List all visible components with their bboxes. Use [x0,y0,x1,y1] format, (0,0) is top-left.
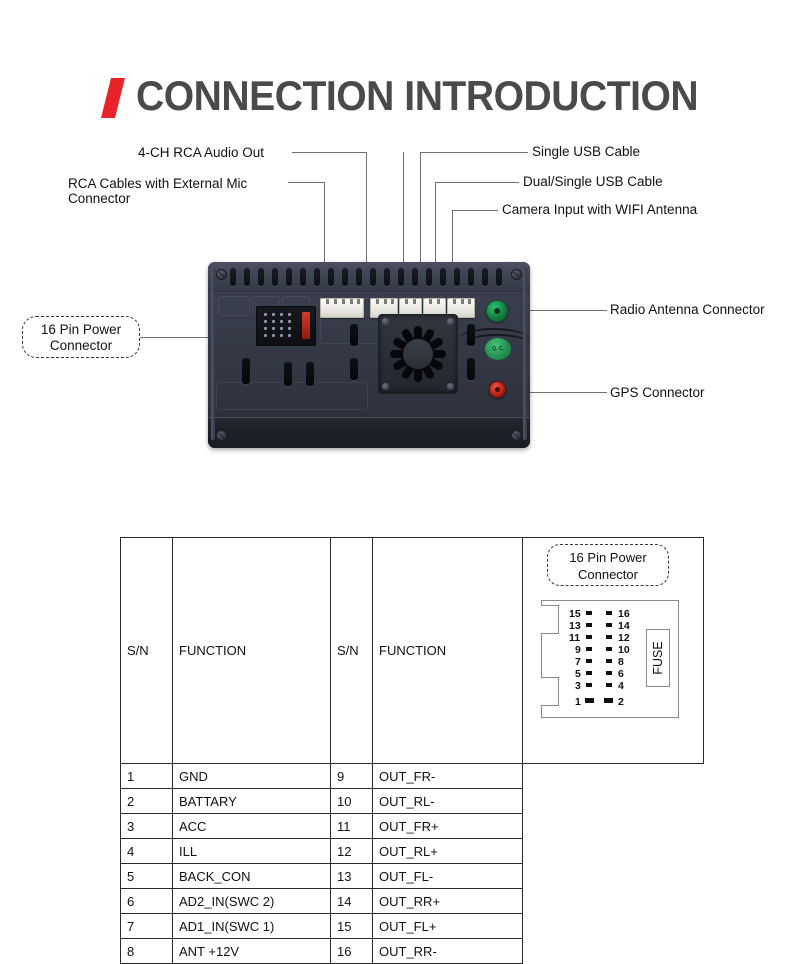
pin-label-15: 15 [569,608,581,620]
cell-function: ILL [173,839,331,864]
cell-function: ANT +12V [173,939,331,964]
connector-notch-top [541,605,559,634]
cooling-fan [378,314,458,394]
label-4ch-rca-audio-out: 4-CH RCA Audio Out [138,145,264,160]
chassis-slot [350,358,358,380]
red-accent-bar [101,78,125,118]
cell-sn: 15 [331,914,373,939]
pin-label-3: 3 [575,680,581,692]
cell-function: BACK_CON [173,864,331,889]
leader-rca-audio-v [366,152,367,266]
cell-sn: 1 [121,764,173,789]
label-single-usb-cable: Single USB Cable [532,144,640,159]
cell-sn: 6 [121,889,173,914]
chassis-slot [467,324,475,346]
leader-camera-h [452,210,498,211]
leader-single-usb-h [420,152,528,153]
chassis-slot [467,358,475,380]
leader-single-usb-v [420,152,421,266]
cell-function: OUT_FR- [373,764,523,789]
pin-label-7: 7 [575,656,581,668]
cell-function: OUT_RR- [373,939,523,964]
cell-sn: 7 [121,914,173,939]
fuse-box: FUSE [646,629,670,687]
connector-outline: 15 13 11 9 7 5 3 [541,600,679,718]
page-title: CONNECTION INTRODUCTION [136,72,698,120]
cell-sn: 16 [331,939,373,964]
leader-rca-mic-v [324,182,325,266]
radio-antenna-connector [486,300,508,322]
table-row: 6 AD2_IN(SWC 2) 14 OUT_RR+ [121,889,704,914]
table-row: 5 BACK_CON 13 OUT_FL- [121,864,704,889]
page-header: CONNECTION INTRODUCTION [0,34,800,96]
socket-fuse [302,312,310,339]
table-row: 4 ILL 12 OUT_RL+ [121,839,704,864]
fuse-label: FUSE [651,641,665,674]
cell-function: OUT_FL- [373,864,523,889]
panel-seam [218,296,250,316]
cell-sn: 3 [121,814,173,839]
pinout-diagram: 16 Pin Power Connector 15 13 11 9 7 [529,538,697,763]
pin-label-11: 11 [569,632,580,644]
connector-rca-audio-out [320,298,364,318]
leader-camera-v [452,210,453,266]
leader-dual-usb-v [435,182,436,266]
cell-sn: 11 [331,814,373,839]
label-radio-antenna-connector: Radio Antenna Connector [610,302,765,317]
leader-dual-usb-h [435,182,519,183]
callout-16-pin-power-connector: 16 Pin Power Connector [22,316,140,358]
pinout-diagram-cell: 16 Pin Power Connector 15 13 11 9 7 [523,538,704,764]
pinout-title-line2: Connector [578,567,638,582]
pin-label-9: 9 [575,644,581,656]
cell-function: OUT_RL+ [373,839,523,864]
leader-usb-extra-v [403,152,404,266]
cell-function: OUT_RR+ [373,889,523,914]
chassis-slot [306,362,314,386]
corner-screw [511,430,522,441]
cell-sn: 9 [331,764,373,789]
connector-notch-bottom [541,677,559,706]
table-row: 3 ACC 11 OUT_FR+ [121,814,704,839]
label-gps-connector: GPS Connector [610,385,705,400]
table-header-row: S/N FUNCTION S/N FUNCTION 16 Pin Power C… [121,538,704,764]
chassis-side-rail [523,268,527,440]
pin-label-14: 14 [618,620,630,632]
panel-seam [216,382,368,410]
cell-function: OUT_FR+ [373,814,523,839]
label-rca-cables-external-mic: RCA Cables with External Mic Connector [68,176,278,206]
cell-function: OUT_RL- [373,789,523,814]
label-dual-single-usb-cable: Dual/Single USB Cable [523,174,663,189]
chassis-slot [242,358,250,384]
cell-sn: 14 [331,889,373,914]
header-function-1: FUNCTION [173,538,331,764]
device-bottom-band [208,417,530,448]
header-sn-2: S/N [331,538,373,764]
header-function-2: FUNCTION [373,538,523,764]
cell-function: BATTARY [173,789,331,814]
pin-label-10: 10 [618,644,630,656]
cell-function: GND [173,764,331,789]
power-connector-line1: 16 Pin Power [41,322,121,337]
cell-function: AD1_IN(SWC 1) [173,914,331,939]
pin-label-4: 4 [618,680,624,692]
pin-label-5: 5 [575,668,581,680]
socket-pin-grid [262,311,296,341]
table-body: 1 GND 9 OUT_FR- 2 BATTARY 10 OUT_RL- 3 A… [121,764,704,964]
cell-function: ACC [173,814,331,839]
chassis-slot [350,324,358,346]
pinout-title-box: 16 Pin Power Connector [547,544,669,586]
corner-screw [216,430,227,441]
table-row: 2 BATTARY 10 OUT_RL- [121,789,704,814]
cell-sn: 12 [331,839,373,864]
cell-sn: 10 [331,789,373,814]
chassis-slot [284,362,292,386]
pin-label-16: 16 [618,608,630,620]
cell-sn: 5 [121,864,173,889]
corner-screw [511,269,522,280]
cell-function: AD2_IN(SWC 2) [173,889,331,914]
pin-label-8: 8 [618,656,624,668]
table-row: 8 ANT +12V 16 OUT_RR- [121,939,704,964]
device-16pin-power-socket [256,306,316,346]
power-connector-line2: Connector [50,338,112,353]
header-sn-1: S/N [121,538,173,764]
ventilation-slots [230,268,508,286]
cell-function: OUT_FL+ [373,914,523,939]
leader-rca-mic-h [288,182,324,183]
gps-connector [489,381,506,398]
corner-screw [216,269,227,280]
connection-introduction-page: CONNECTION INTRODUCTION 4-CH RCA Audio O… [0,0,800,800]
cell-sn: 4 [121,839,173,864]
head-unit-rear-panel: Q. C. [208,262,530,448]
pin-label-13: 13 [569,620,581,632]
cell-sn: 8 [121,939,173,964]
pin-label-1: 1 [575,696,581,708]
label-camera-input-wifi-antenna: Camera Input with WIFI Antenna [502,202,697,217]
chassis-side-rail [211,268,215,440]
pin-label-12: 12 [618,632,630,644]
table-row: 1 GND 9 OUT_FR- [121,764,704,789]
pin-function-table: S/N FUNCTION S/N FUNCTION 16 Pin Power C… [120,537,704,964]
pinout-title-line1: 16 Pin Power [569,550,646,565]
pin-label-2: 2 [618,696,624,708]
cell-sn: 2 [121,789,173,814]
cell-sn: 13 [331,864,373,889]
table-row: 7 AD1_IN(SWC 1) 15 OUT_FL+ [121,914,704,939]
pin-label-6: 6 [618,668,624,680]
leader-rca-audio-h [292,152,366,153]
